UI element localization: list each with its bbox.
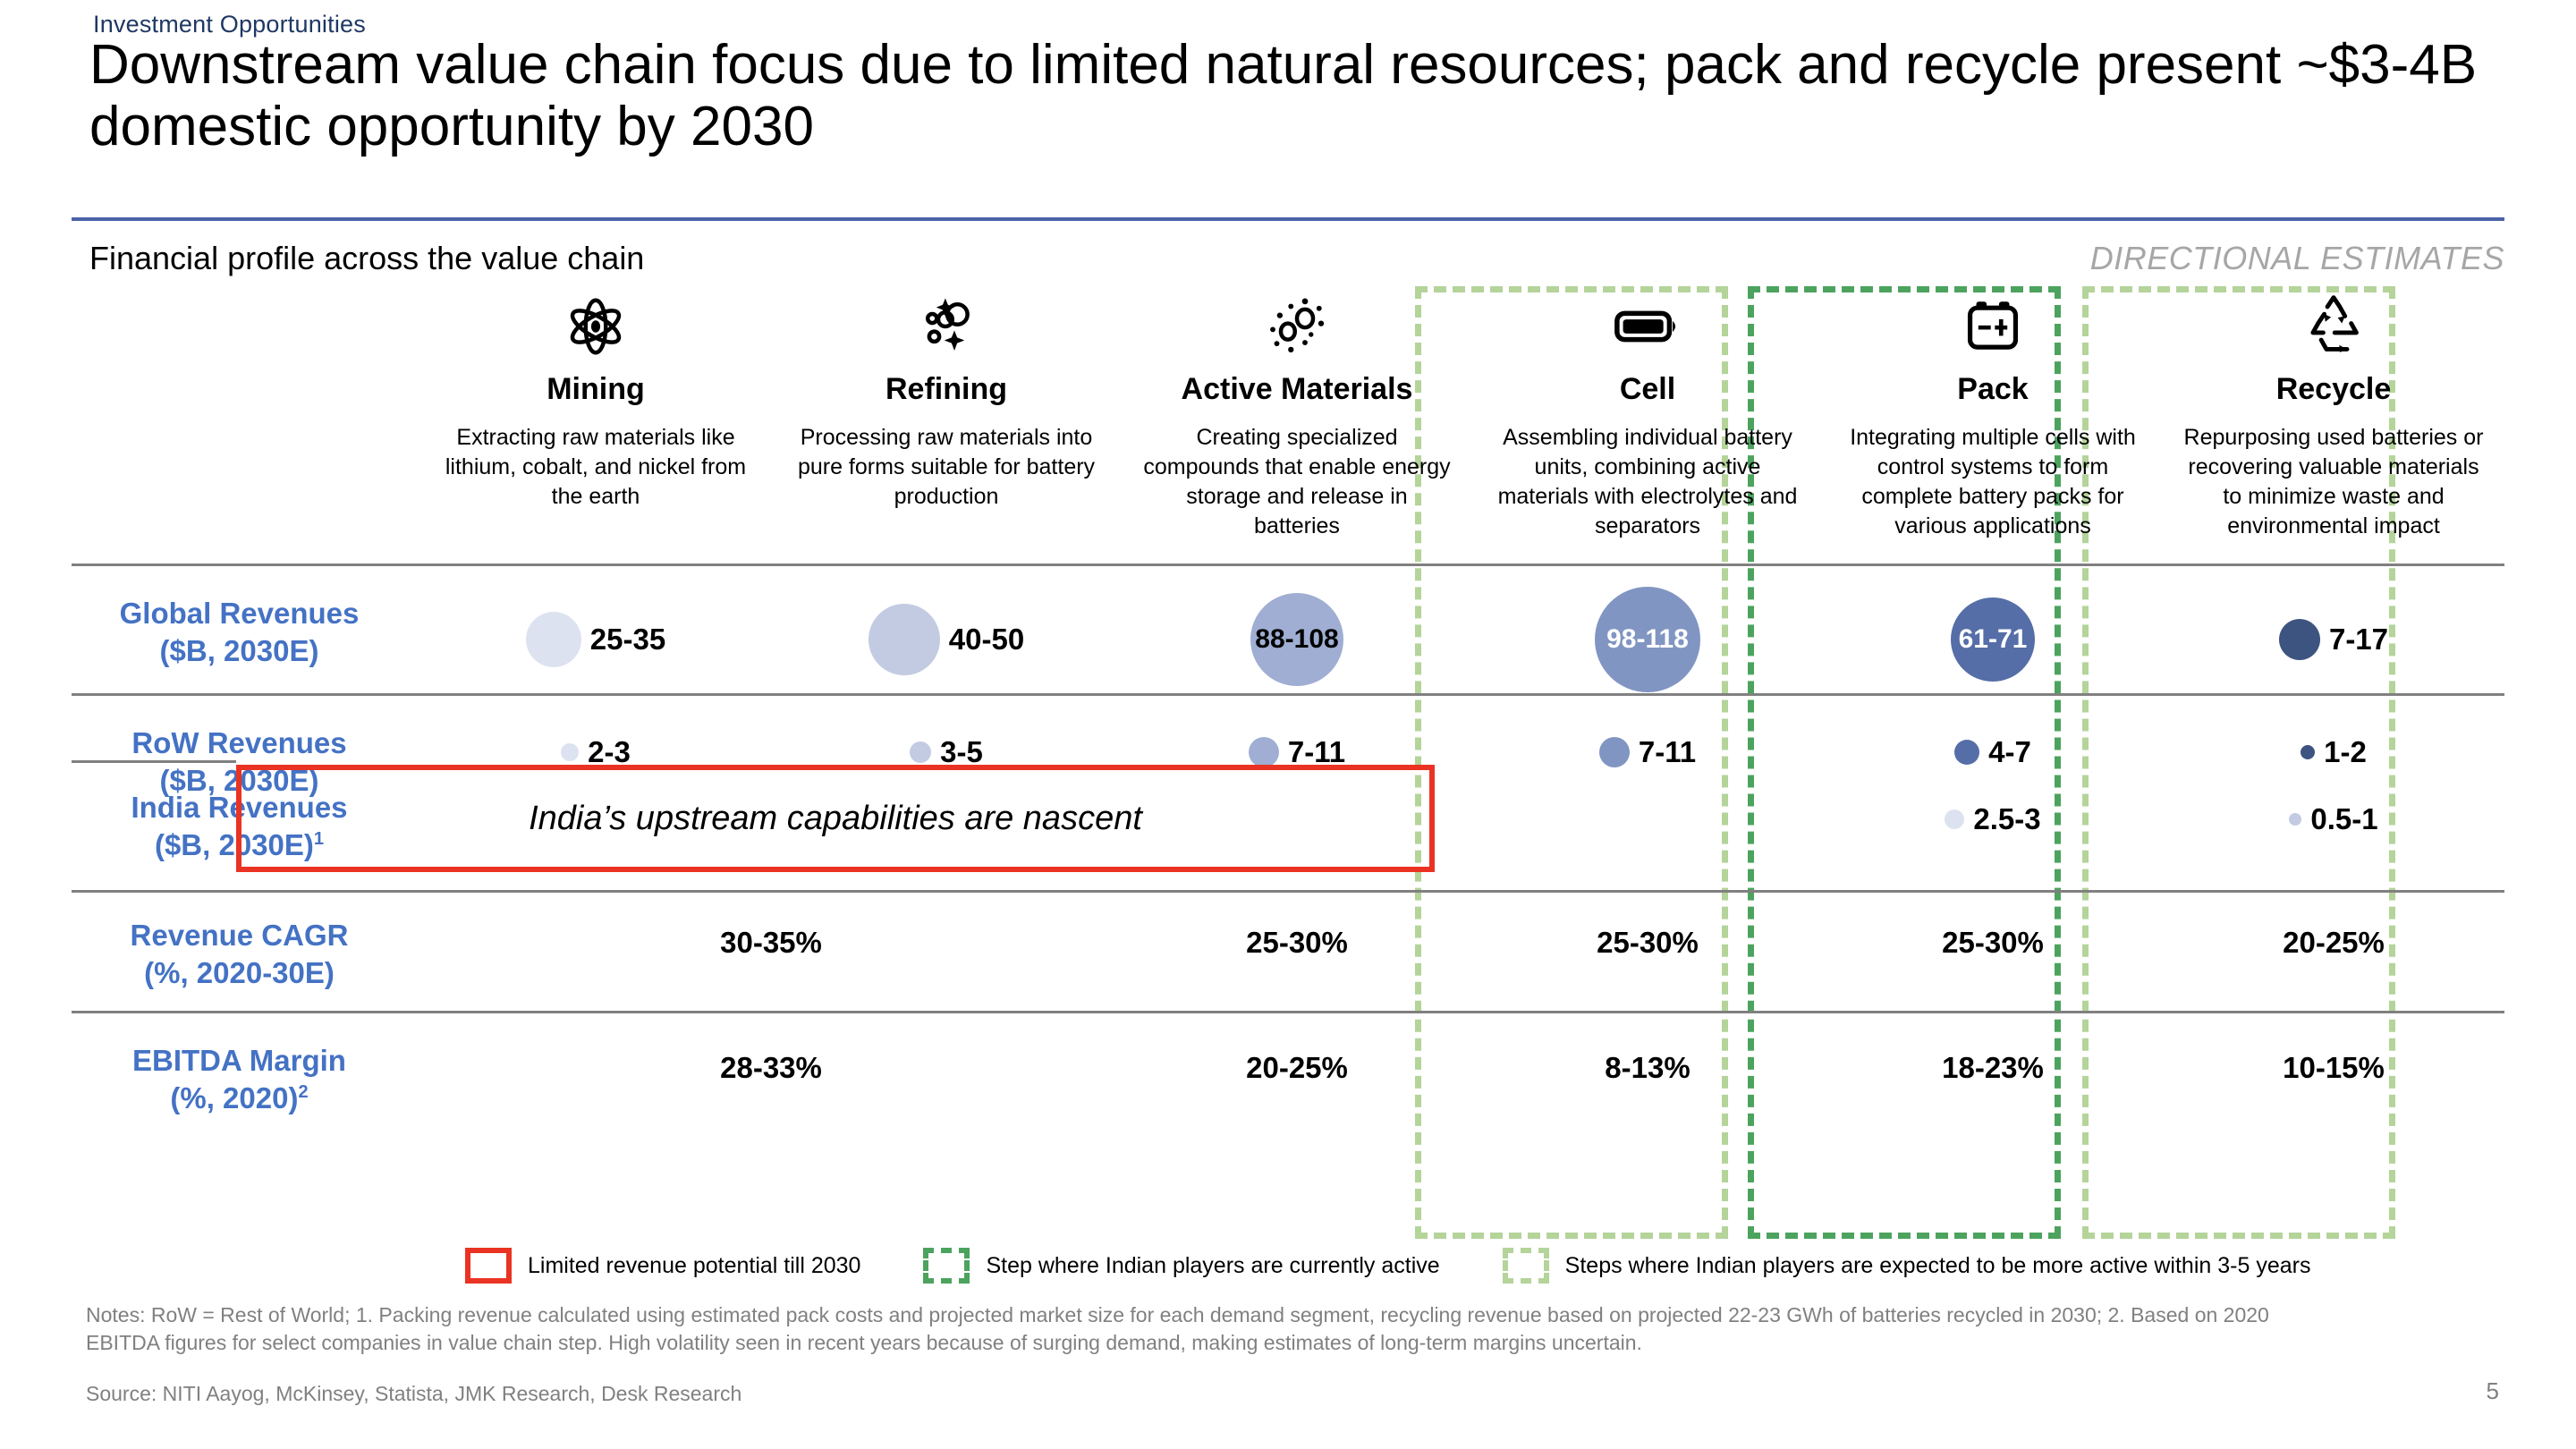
- bubble-value: 7-17: [2329, 623, 2388, 657]
- section-subheading: Financial profile across the value chain: [89, 240, 644, 277]
- value-cell: 8-13%: [1472, 1051, 1823, 1085]
- legend-swatch-light-green-dashed: [1503, 1248, 1549, 1284]
- value-chain-matrix: Mining Extracting raw materials like lit…: [72, 286, 2504, 1243]
- legend-label: Limited revenue potential till 2030: [528, 1253, 860, 1279]
- value-cell: 25-30%: [1122, 926, 1472, 960]
- bubble-marker: [526, 612, 581, 667]
- bubble-marker: [1599, 737, 1630, 767]
- row-divider: [72, 890, 2504, 893]
- row-divider: [72, 1011, 2504, 1013]
- row-label-global-revenues: Global Revenues ($B, 2030E): [72, 595, 407, 670]
- bubble-cell: 98-118: [1472, 590, 1823, 689]
- bubble-marker: [2279, 619, 2320, 660]
- page-title: Downstream value chain focus due to limi…: [89, 34, 2504, 158]
- bubble-cell: 88-108: [1122, 590, 1472, 689]
- directional-estimates-label: DIRECTIONAL ESTIMATES: [2090, 240, 2504, 277]
- legend-label: Step where Indian players are currently …: [986, 1253, 1439, 1279]
- legend-swatch-dark-green-dashed: [923, 1248, 970, 1284]
- bubble-cell: 61-71: [1823, 590, 2163, 689]
- bubble-marker: 61-71: [1951, 597, 2035, 682]
- battery-cell-icon: [1472, 286, 1823, 367]
- column-description: Integrating multiple cells with control …: [1823, 423, 2163, 541]
- bubble-cell: 25-35: [420, 590, 771, 689]
- bubble-value: 0.5-1: [2310, 802, 2377, 836]
- column-description: Assembling individual battery units, com…: [1472, 423, 1823, 541]
- value-cell: 20-25%: [1122, 1051, 1472, 1085]
- column-description: Processing raw materials into pure forms…: [771, 423, 1122, 512]
- column-header-recycle: Recycle Repurposing used batteries or re…: [2163, 286, 2504, 541]
- bubble-cell: 7-17: [2163, 590, 2504, 689]
- column-name: Pack: [1823, 372, 2163, 407]
- legend-label: Steps where Indian players are expected …: [1565, 1253, 2311, 1279]
- bubble-value: 40-50: [949, 623, 1024, 657]
- bubble-marker: [910, 741, 931, 763]
- legend-item-future-active: Steps where Indian players are expected …: [1503, 1248, 2311, 1284]
- legend-item-limited-revenue: Limited revenue potential till 2030: [465, 1248, 860, 1284]
- value-cell: 25-30%: [1823, 926, 2163, 960]
- column-header-pack: Pack Integrating multiple cells with con…: [1823, 286, 2163, 541]
- footnotes: Notes: RoW = Rest of World; 1. Packing r…: [86, 1301, 2322, 1357]
- sparkle-bubbles-icon: [771, 286, 1122, 367]
- bubble-marker: [869, 604, 940, 675]
- column-name: Refining: [771, 372, 1122, 407]
- bubble-cell: 1-2: [2163, 724, 2504, 780]
- bubble-marker: [1249, 737, 1279, 767]
- bubble-marker: [1945, 809, 1964, 829]
- bubble-cell: 2.5-3: [1823, 792, 2163, 847]
- column-name: Mining: [420, 372, 771, 407]
- value-cell: 18-23%: [1823, 1051, 2163, 1085]
- column-description: Extracting raw materials like lithium, c…: [420, 423, 771, 512]
- bubble-marker: [2301, 745, 2315, 759]
- column-description: Repurposing used batteries or recovering…: [2163, 423, 2504, 541]
- bubble-cell: 7-11: [1472, 724, 1823, 780]
- bubble-marker: [1954, 740, 1979, 765]
- row-label-revenue-cagr: Revenue CAGR (%, 2020-30E): [72, 917, 407, 992]
- page-number: 5: [2487, 1377, 2499, 1405]
- legend-item-currently-active: Step where Indian players are currently …: [923, 1248, 1439, 1284]
- legend-swatch-red-solid: [465, 1248, 512, 1284]
- source-line: Source: NITI Aayog, McKinsey, Statista, …: [86, 1382, 741, 1406]
- nascent-callout-text: India’s upstream capabilities are nascen…: [529, 800, 1142, 838]
- battery-pack-icon: [1823, 286, 2163, 367]
- row-divider: [72, 563, 2504, 566]
- column-header-cell: Cell Assembling individual battery units…: [1472, 286, 1823, 541]
- molecule-dots-icon: [1122, 286, 1472, 367]
- bubble-value: 7-11: [1639, 735, 1696, 769]
- column-header-refining: Refining Processing raw materials into p…: [771, 286, 1122, 512]
- column-header-mining: Mining Extracting raw materials like lit…: [420, 286, 771, 512]
- nascent-callout-box: India’s upstream capabilities are nascen…: [236, 765, 1435, 872]
- bubble-value: 2.5-3: [1973, 802, 2040, 836]
- bubble-marker: 88-108: [1250, 593, 1343, 686]
- bubble-cell: 0.5-1: [2163, 792, 2504, 847]
- value-cell: 20-25%: [2163, 926, 2504, 960]
- column-description: Creating specialized compounds that enab…: [1122, 423, 1472, 541]
- value-cell: 28-33%: [420, 1051, 1122, 1085]
- atom-icon: [420, 286, 771, 367]
- bubble-marker: [561, 743, 579, 761]
- footnote-marker: 2: [298, 1082, 308, 1102]
- column-name: Recycle: [2163, 372, 2504, 407]
- column-header-active-materials: Active Materials Creating specialized co…: [1122, 286, 1472, 541]
- bubble-cell: 40-50: [771, 590, 1122, 689]
- bubble-marker: 98-118: [1595, 587, 1700, 692]
- title-divider: [72, 217, 2504, 221]
- legend: Limited revenue potential till 2030 Step…: [465, 1248, 2310, 1284]
- row-label-ebitda-margin: EBITDA Margin (%, 2020)2: [72, 1042, 407, 1117]
- bubble-value: 1-2: [2324, 735, 2367, 769]
- value-cell: 25-30%: [1472, 926, 1823, 960]
- bubble-marker: [2289, 813, 2301, 826]
- bubble-cell: 4-7: [1823, 724, 2163, 780]
- column-name: Cell: [1472, 372, 1823, 407]
- recycle-icon: [2163, 286, 2504, 367]
- row-divider: [72, 693, 2504, 696]
- bubble-value: 4-7: [1988, 735, 2031, 769]
- bubble-value: 25-35: [590, 623, 665, 657]
- column-name: Active Materials: [1122, 372, 1472, 407]
- value-cell: 30-35%: [420, 926, 1122, 960]
- value-cell: 10-15%: [2163, 1051, 2504, 1085]
